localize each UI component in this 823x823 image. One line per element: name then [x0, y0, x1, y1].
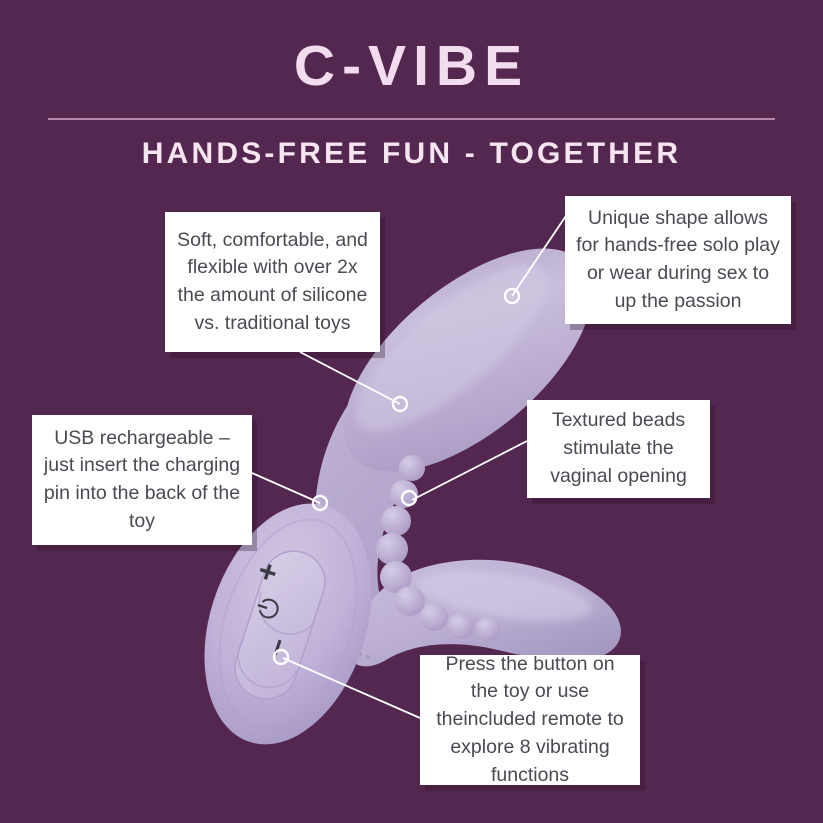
callout-silicone-text: Soft, comfortable, and flexible with ove… — [175, 227, 370, 338]
callout-silicone: Soft, comfortable, and flexible with ove… — [165, 212, 380, 352]
callout-textured-beads: Textured beads stimulate the vaginal ope… — [527, 400, 710, 498]
callout-usb-rechargeable-text: USB rechargeable – just insert the charg… — [42, 425, 242, 536]
infographic-canvas: C-VIBE HANDS-FREE FUN - TOGETHER — [0, 0, 823, 823]
callout-unique-shape-text: Unique shape allows for hands-free solo … — [575, 205, 781, 316]
callout-vibrating-functions-text: Press the button on the toy or use thein… — [430, 651, 630, 789]
callout-vibrating-functions: Press the button on the toy or use thein… — [420, 655, 640, 785]
callout-usb-rechargeable: USB rechargeable – just insert the charg… — [32, 415, 252, 545]
callout-textured-beads-text: Textured beads stimulate the vaginal ope… — [537, 407, 700, 490]
callout-unique-shape: Unique shape allows for hands-free solo … — [565, 196, 791, 324]
